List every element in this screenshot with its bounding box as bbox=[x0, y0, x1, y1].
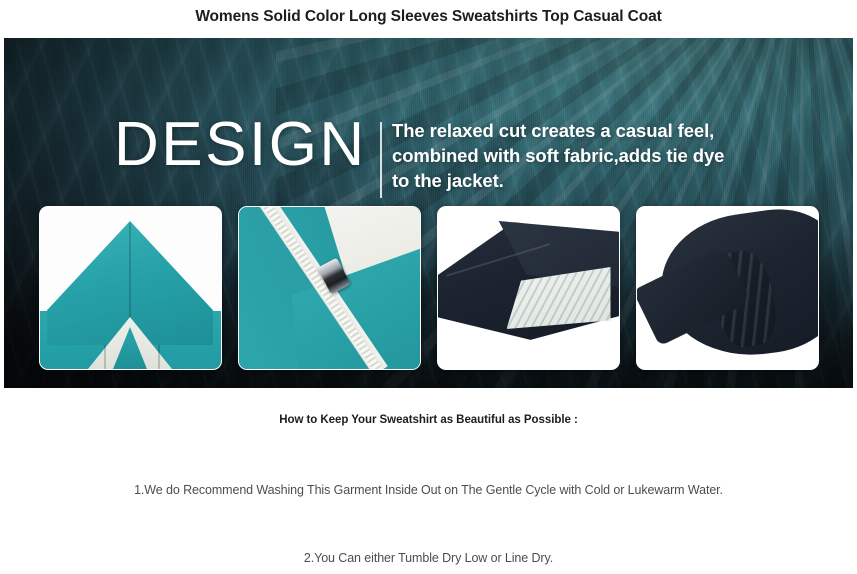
hood-drawcord-right bbox=[158, 345, 160, 369]
thumbnail-hood-detail[interactable] bbox=[39, 206, 222, 370]
thumbnail-hem-lining-detail[interactable] bbox=[437, 206, 620, 370]
hem-lining-detail-image bbox=[438, 207, 619, 369]
banner-description-line-3: to the jacket. bbox=[392, 168, 792, 193]
hood-center-seam bbox=[129, 223, 131, 331]
hood-detail-image bbox=[40, 207, 221, 369]
care-instruction-2: 2.You Can either Tumble Dry Low or Line … bbox=[0, 551, 857, 565]
cuff-detail-image bbox=[637, 207, 818, 369]
thumbnail-zipper-detail[interactable] bbox=[238, 206, 421, 370]
hood-drawcord-left bbox=[104, 345, 106, 369]
design-banner: DESIGN The relaxed cut creates a casual … bbox=[4, 38, 853, 388]
banner-divider-rule bbox=[380, 122, 382, 198]
care-section-heading: How to Keep Your Sweatshirt as Beautiful… bbox=[0, 414, 857, 426]
care-instruction-1: 1.We do Recommend Washing This Garment I… bbox=[0, 483, 857, 497]
zipper-detail-image bbox=[239, 207, 420, 369]
detail-thumbnail-row bbox=[4, 206, 853, 368]
banner-description-line-2: combined with soft fabric,adds tie dye bbox=[392, 143, 792, 168]
thumbnail-cuff-detail[interactable] bbox=[636, 206, 819, 370]
banner-description-line-1: The relaxed cut creates a casual feel, bbox=[392, 118, 792, 143]
page-title: Womens Solid Color Long Sleeves Sweatshi… bbox=[0, 0, 857, 30]
banner-description: The relaxed cut creates a casual feel, c… bbox=[392, 118, 792, 193]
banner-headline: DESIGN bbox=[114, 114, 367, 176]
